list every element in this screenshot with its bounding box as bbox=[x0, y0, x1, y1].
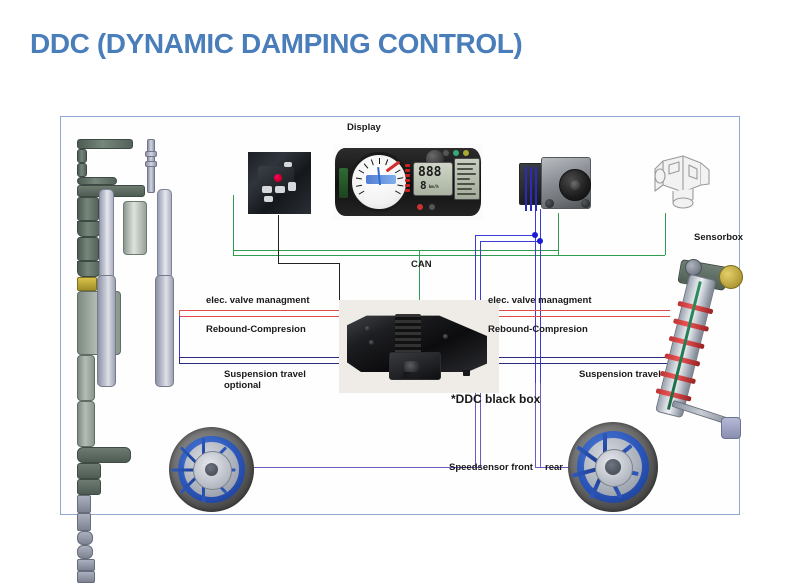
sensorbox-unit bbox=[649, 151, 719, 213]
shock-reservoir bbox=[719, 265, 743, 289]
signal-link-top-b bbox=[480, 241, 540, 242]
instrument-cluster: 888 8 km/h bbox=[333, 144, 483, 220]
rear-wheel bbox=[568, 422, 658, 512]
switch-red-button bbox=[274, 174, 282, 182]
rear-shock-absorber bbox=[665, 257, 751, 447]
ddc-system-diagram: Display CAN Sensorbox elec. valve managm… bbox=[60, 116, 740, 515]
switch-wire-right bbox=[278, 263, 339, 264]
label-left-travel-optional: optional bbox=[224, 380, 261, 391]
front-fork-assembly bbox=[77, 139, 217, 439]
label-sensorbox: Sensorbox bbox=[694, 232, 743, 243]
front-wheel bbox=[169, 427, 254, 512]
label-left-travel: Suspension travel bbox=[224, 369, 306, 380]
right-valve-wire bbox=[480, 310, 670, 311]
cluster-brand-logo bbox=[366, 175, 396, 184]
tachometer-dial bbox=[349, 152, 409, 212]
can-wire-abs-down bbox=[558, 213, 559, 255]
signal-trunk-d bbox=[540, 241, 541, 383]
right-travel-wire-2 bbox=[480, 363, 670, 364]
control-box-connector bbox=[389, 352, 441, 380]
can-wire-sensorbox-down bbox=[665, 213, 666, 255]
label-speedsensor-front: Speedsensor front bbox=[449, 462, 533, 473]
shift-light-bars bbox=[405, 164, 410, 194]
abs-pressure-modulator bbox=[519, 155, 597, 213]
ddc-control-box bbox=[339, 300, 499, 393]
label-speedsensor-rear: rear bbox=[545, 462, 563, 473]
signal-link-top-a bbox=[475, 235, 535, 236]
can-wire-dash-down bbox=[233, 195, 234, 255]
label-can: CAN bbox=[411, 259, 432, 270]
page-title: DDC (DYNAMIC DAMPING CONTROL) bbox=[30, 28, 730, 60]
switch-wire-to-box bbox=[339, 263, 340, 300]
cluster-housing: 888 8 km/h bbox=[335, 148, 481, 216]
can-wire-ddc-up bbox=[419, 250, 420, 302]
label-left-rebound: Rebound-Compresion bbox=[206, 324, 306, 335]
shock-lower-mount bbox=[721, 417, 741, 439]
label-left-valve: elec. valve managment bbox=[206, 295, 310, 306]
shock-top-eyelet bbox=[685, 259, 702, 276]
sensorbox-drawing bbox=[649, 151, 719, 213]
label-right-rebound: Rebound-Compresion bbox=[488, 324, 588, 335]
front-speed-wire bbox=[229, 467, 480, 468]
junction-dot-2 bbox=[537, 238, 543, 244]
junction-dot-1 bbox=[532, 232, 538, 238]
signal-trunk-c bbox=[535, 235, 536, 383]
cluster-lcd-right bbox=[454, 158, 480, 200]
cluster-left-telltales bbox=[339, 168, 348, 198]
right-rebound-wire bbox=[480, 316, 670, 317]
shock-body bbox=[655, 274, 717, 419]
label-right-travel: Suspension travel bbox=[579, 369, 661, 380]
modulator-pump-motor bbox=[559, 169, 591, 201]
right-travel-wire bbox=[480, 357, 670, 358]
can-wire-horizontal-2 bbox=[233, 250, 558, 251]
label-ddc-black-box: *DDC black box bbox=[451, 394, 540, 405]
connector-slot bbox=[404, 361, 420, 372]
label-right-valve: elec. valve managment bbox=[488, 295, 592, 306]
label-display: Display bbox=[347, 122, 381, 133]
cluster-lcd-main: 888 8 km/h bbox=[413, 162, 453, 196]
can-wire-horizontal bbox=[233, 255, 665, 256]
abs-signal-down-2 bbox=[540, 209, 541, 241]
handlebar-switchgear bbox=[247, 151, 312, 215]
switch-wire-down bbox=[278, 213, 279, 263]
